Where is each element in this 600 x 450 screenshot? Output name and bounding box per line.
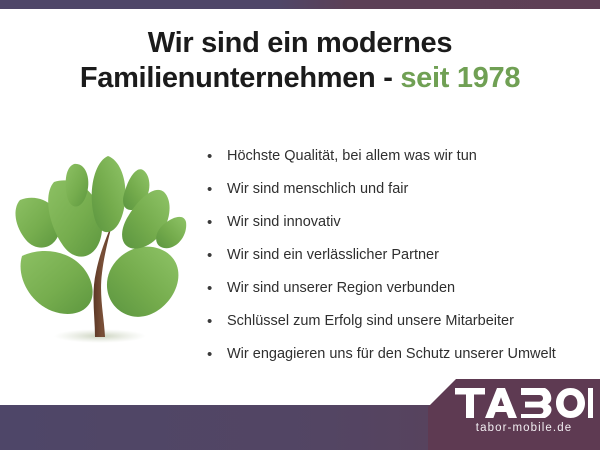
list-item-label: Wir engagieren uns für den Schutz unsere… [227, 338, 556, 371]
headline-line-2-prefix: Familienunternehmen - [80, 62, 401, 94]
tree-leaf [21, 251, 93, 314]
brand-url-label: tabor-mobile.de [448, 422, 600, 434]
list-item: • Wir engagieren uns für den Schutz unse… [207, 338, 597, 371]
slide-canvas: Wir sind ein modernes Familienunternehme… [0, 0, 600, 450]
top-accent-strip [0, 0, 600, 9]
list-item: • Schlüssel zum Erfolg sind unsere Mitar… [207, 305, 597, 338]
bullet-dot-icon: • [207, 239, 227, 272]
bullet-dot-icon: • [207, 173, 227, 206]
bullet-dot-icon: • [207, 338, 227, 371]
benefits-list: • Höchste Qualität, bei allem was wir tu… [207, 140, 597, 371]
list-item: • Höchste Qualität, bei allem was wir tu… [207, 140, 597, 173]
headline-line-2: Familienunternehmen - seit 1978 [0, 61, 600, 96]
headline-accent-since-1978: seit 1978 [400, 62, 520, 94]
headline-line-1: Wir sind ein modernes [148, 27, 452, 59]
list-item: • Wir sind unserer Region verbunden [207, 272, 597, 305]
list-item: • Wir sind menschlich und fair [207, 173, 597, 206]
list-item: • Wir sind innovativ [207, 206, 597, 239]
tree-illustration [12, 148, 187, 353]
tree-leaf [92, 156, 126, 232]
bullet-dot-icon: • [207, 272, 227, 305]
list-item-label: Wir sind ein verlässlicher Partner [227, 239, 439, 272]
list-item-label: Schlüssel zum Erfolg sind unsere Mitarbe… [227, 305, 514, 338]
brand-logo: tabor-mobile.de [448, 381, 600, 450]
list-item-label: Wir sind unserer Region verbunden [227, 272, 455, 305]
bullet-dot-icon: • [207, 206, 227, 239]
page-title: Wir sind ein modernes Familienunternehme… [0, 26, 600, 96]
tree-leaf [107, 247, 178, 317]
list-item-label: Wir sind menschlich und fair [227, 173, 408, 206]
bullet-dot-icon: • [207, 305, 227, 338]
tabor-wordmark [448, 388, 600, 418]
list-item-label: Wir sind innovativ [227, 206, 341, 239]
list-item-label: Höchste Qualität, bei allem was wir tun [227, 140, 477, 173]
bullet-dot-icon: • [207, 140, 227, 173]
list-item: • Wir sind ein verlässlicher Partner [207, 239, 597, 272]
